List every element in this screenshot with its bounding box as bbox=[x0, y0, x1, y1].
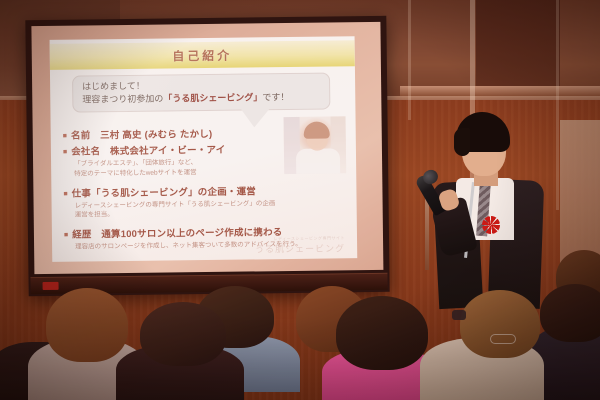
audience-member-2-head bbox=[140, 302, 226, 366]
seated-audience bbox=[0, 0, 600, 400]
audience-member-6-head bbox=[460, 290, 540, 358]
hair-clip bbox=[452, 310, 466, 320]
audience-member-1-head bbox=[46, 288, 128, 362]
audience-member-7-head bbox=[540, 284, 600, 342]
screenshot-stage: 自己紹介 はじめまして！ 理容まつり初参加の「うる肌シェービング」です！ ■ 名… bbox=[0, 0, 600, 400]
audience-member-5-head bbox=[336, 296, 428, 370]
eyeglasses-icon bbox=[490, 334, 516, 344]
